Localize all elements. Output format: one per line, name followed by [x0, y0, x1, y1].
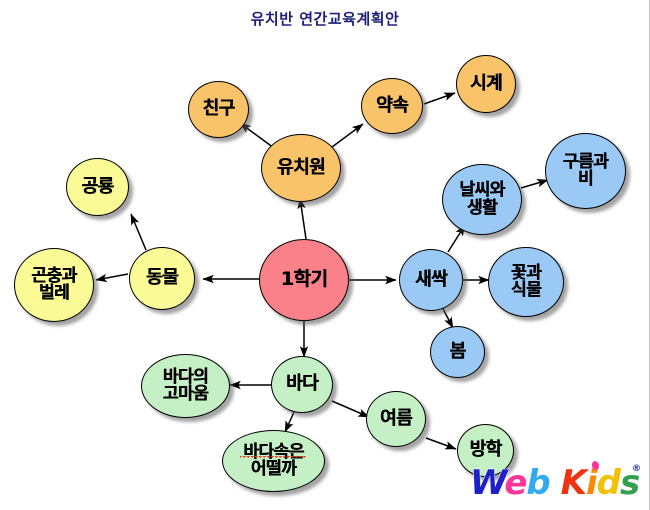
node-gureumgwa-bi[interactable]: 구름과 비: [545, 133, 626, 209]
node-label: 동물: [146, 269, 178, 288]
node-nalssi-saenghwal[interactable]: 날씨와 생활: [442, 164, 522, 235]
node-label: 1학기: [281, 270, 328, 290]
node-label: 날씨와 생활: [459, 182, 504, 217]
edge-yuchiwon-to-chingu: [240, 123, 274, 148]
node-gonchunggwa-beolle[interactable]: 곤충과 벌레: [14, 248, 94, 322]
node-sigye[interactable]: 시계: [456, 55, 516, 113]
logo-letter-k: K: [561, 463, 586, 503]
edge-center-to-yuchiwon: [300, 198, 306, 239]
edge-yaksok-to-sigye: [424, 93, 455, 104]
node-label: 방학: [469, 441, 501, 460]
node-label: 시계: [470, 75, 502, 94]
logo-letter-e: e: [504, 463, 526, 503]
node-bom[interactable]: 봄: [430, 326, 485, 378]
node-dongmul[interactable]: 동물: [129, 247, 195, 310]
edge-yeoreum-to-banghak: [426, 438, 456, 449]
edge-bada-to-yeoreum: [332, 401, 369, 417]
node-yeoreum[interactable]: 여름: [366, 391, 426, 447]
node-label: 꽃과 식물: [511, 265, 541, 300]
logo-letter-b: b: [526, 463, 549, 503]
edge-dongmul-to-gonchung: [96, 274, 128, 280]
diagram-canvas: 유치반 연간교육계획안: [0, 0, 650, 510]
node-badaui-gomaum[interactable]: 바다의 고마움: [141, 354, 230, 418]
node-label: 곤충과 벌레: [31, 268, 76, 303]
node-badasogeun-eotteolkka[interactable]: 바다속은 어떨까: [222, 430, 325, 492]
node-label: 바다의 고마움: [163, 369, 208, 404]
edge-bada-to-badasogeun: [285, 412, 294, 432]
node-label: 구름과 비: [563, 154, 608, 189]
webkids-logo: Web Kids: [470, 466, 639, 500]
node-label: 새싹: [415, 271, 447, 290]
node-label: 친구: [202, 100, 234, 119]
logo-letter-w: W: [470, 463, 504, 503]
logo-space: [550, 463, 561, 503]
node-yuchiwon[interactable]: 유치원: [261, 134, 341, 202]
node-yaksok[interactable]: 약속: [361, 78, 423, 134]
node-label: 바다속은 어떨까: [243, 444, 304, 479]
node-center-1hakgi[interactable]: 1학기: [259, 239, 349, 321]
node-label: 공룡: [81, 178, 113, 197]
node-label: 바다: [286, 375, 318, 394]
page-title: 유치반 연간교육계획안: [0, 8, 650, 29]
edge-nalssi-to-gureum: [521, 180, 548, 188]
edge-yuchiwon-to-yaksok: [328, 124, 363, 150]
edge-dongmul-to-gongryong: [131, 214, 146, 250]
registered-mark: ®: [632, 464, 641, 474]
node-gongryong[interactable]: 공룡: [66, 158, 129, 216]
node-chingu[interactable]: 친구: [188, 81, 249, 138]
node-saessak[interactable]: 새싹: [399, 249, 463, 311]
node-bada[interactable]: 바다: [271, 356, 333, 413]
spellcheck-underline: [240, 456, 306, 460]
node-kkotgwa-singmul[interactable]: 꽃과 식물: [488, 247, 564, 317]
node-label: 봄: [449, 343, 465, 362]
node-label: 여름: [380, 410, 412, 429]
node-label: 유치원: [277, 159, 325, 178]
logo-letter-d: d: [597, 463, 620, 503]
node-label: 약속: [376, 97, 408, 116]
